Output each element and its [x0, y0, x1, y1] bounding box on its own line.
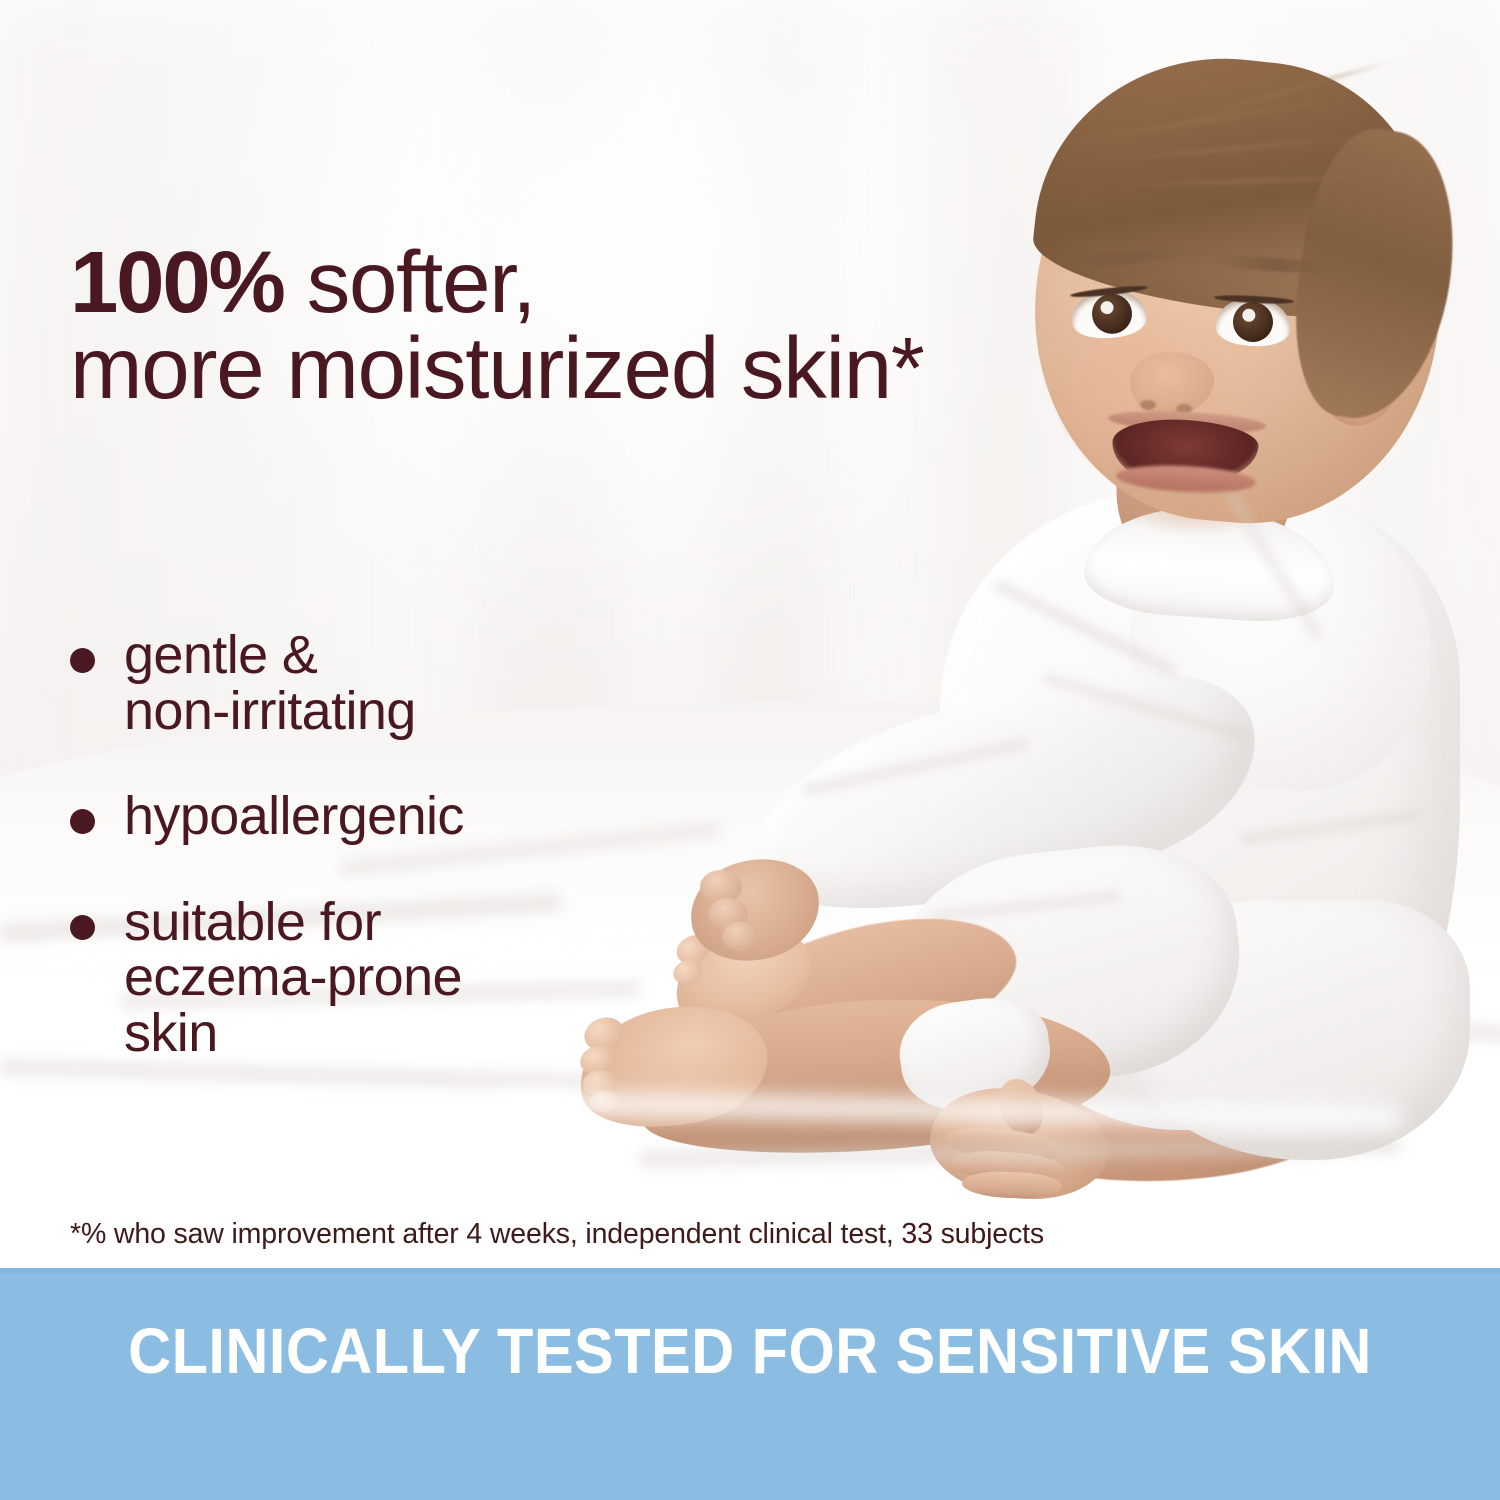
product-benefit-ad: 100% softer, more moisturized skin* gent… [0, 0, 1500, 1500]
headline-line2: more moisturized skin* [70, 320, 924, 417]
footnote: *% who saw improvement after 4 weeks, in… [70, 1218, 1044, 1251]
claim-banner: CLINICALLY TESTED FOR SENSITIVE SKIN [0, 1268, 1500, 1500]
headline-line1-rest: softer, [284, 234, 536, 331]
knuckle [722, 922, 758, 951]
iris [1232, 301, 1274, 343]
banner-claim-text: CLINICALLY TESTED FOR SENSITIVE SKIN [53, 1314, 1448, 1388]
iris [1091, 292, 1134, 335]
benefit-label: suitable for eczema-prone skin [124, 895, 630, 1062]
benefit-label: gentle & non-irritating [124, 628, 630, 739]
benefit-label: hypoallergenic [124, 789, 630, 845]
bullet-dot-icon [70, 648, 95, 673]
bullet-dot-icon [70, 915, 95, 940]
bullet-dot-icon [70, 809, 95, 834]
list-item: hypoallergenic [70, 789, 630, 845]
headline-emphasis: 100% [70, 234, 284, 331]
benefit-list: gentle & non-irritating hypoallergenic s… [70, 628, 630, 1062]
list-item: gentle & non-irritating [70, 628, 630, 739]
banner-top-edge [0, 1268, 1500, 1273]
headline: 100% softer, more moisturized skin* [70, 240, 1080, 412]
nostril [1140, 400, 1156, 410]
list-item: suitable for eczema-prone skin [70, 895, 630, 1062]
